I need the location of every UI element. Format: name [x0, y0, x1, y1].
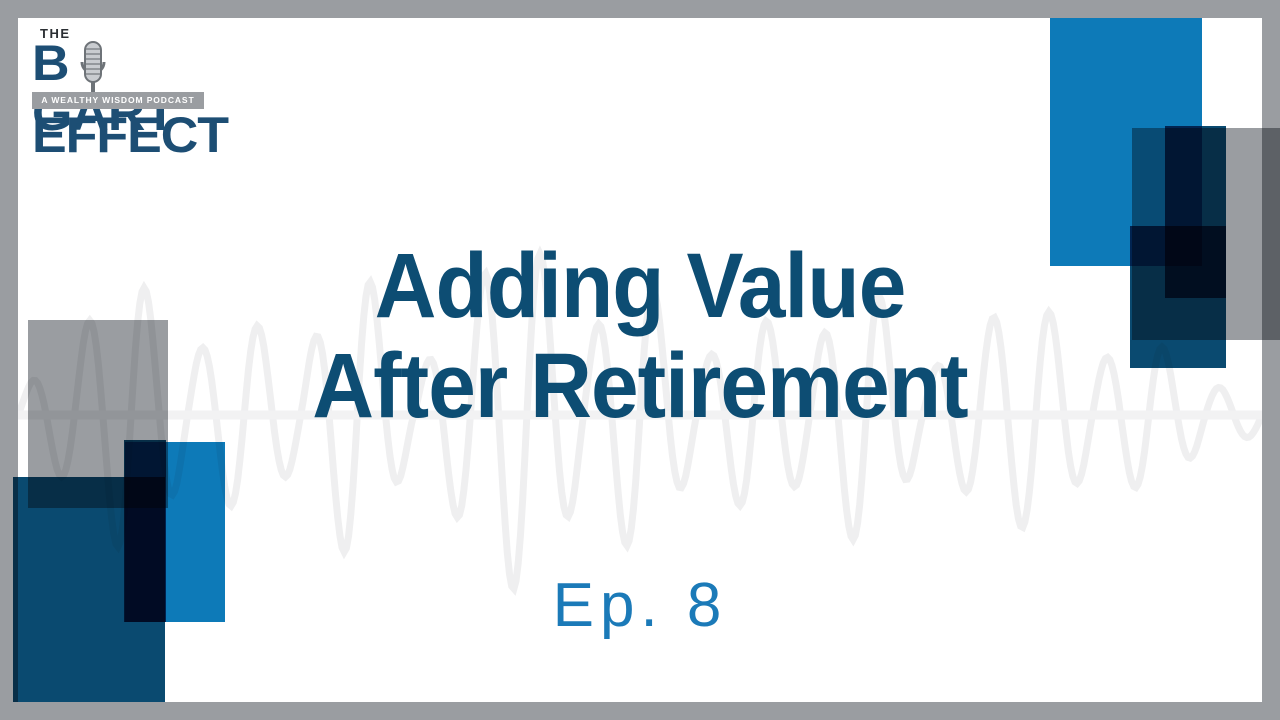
bogart-effect-logo[interactable]: THE B GART A WEALTHY WISDOM PODCAST EFFE… — [32, 26, 204, 158]
microphone-icon — [76, 40, 110, 98]
title-line-2: After Retirement — [45, 336, 1235, 436]
podcast-cover: THE B GART A WEALTHY WISDOM PODCAST EFFE… — [0, 0, 1280, 720]
title-line-1: Adding Value — [45, 236, 1235, 336]
episode-title: Adding Value After Retirement — [0, 236, 1280, 436]
episode-number-label: Ep. 8 — [0, 570, 1280, 642]
logo-wordmark-effect: EFFECT — [32, 110, 228, 160]
